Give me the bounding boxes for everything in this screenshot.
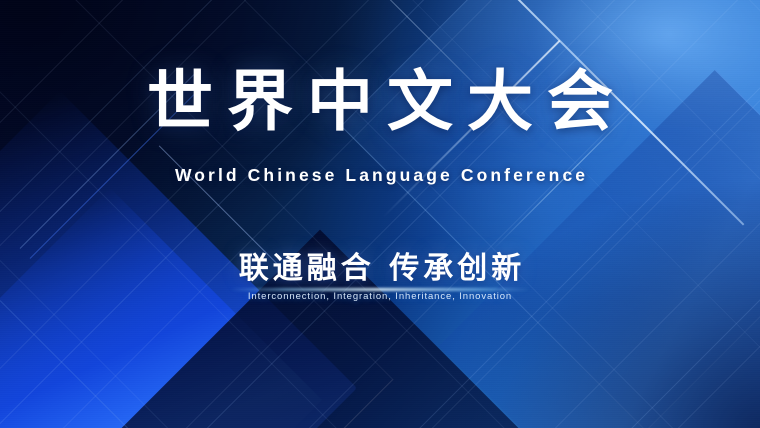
slogan-glow-underline <box>230 288 530 291</box>
poster-slogan-block: 联通融合 传承创新 Interconnection, Integration, … <box>0 252 760 302</box>
poster-content: 世界中文大会 World Chinese Language Conference… <box>0 0 760 428</box>
poster-slogan-chinese: 联通融合 传承创新 <box>0 252 760 286</box>
conference-poster: 世界中文大会 World Chinese Language Conference… <box>0 0 760 428</box>
poster-title-english: World Chinese Language Conference <box>0 165 760 186</box>
poster-slogan-english: Interconnection, Integration, Inheritanc… <box>0 291 760 302</box>
poster-title-chinese: 世界中文大会 <box>0 66 760 137</box>
